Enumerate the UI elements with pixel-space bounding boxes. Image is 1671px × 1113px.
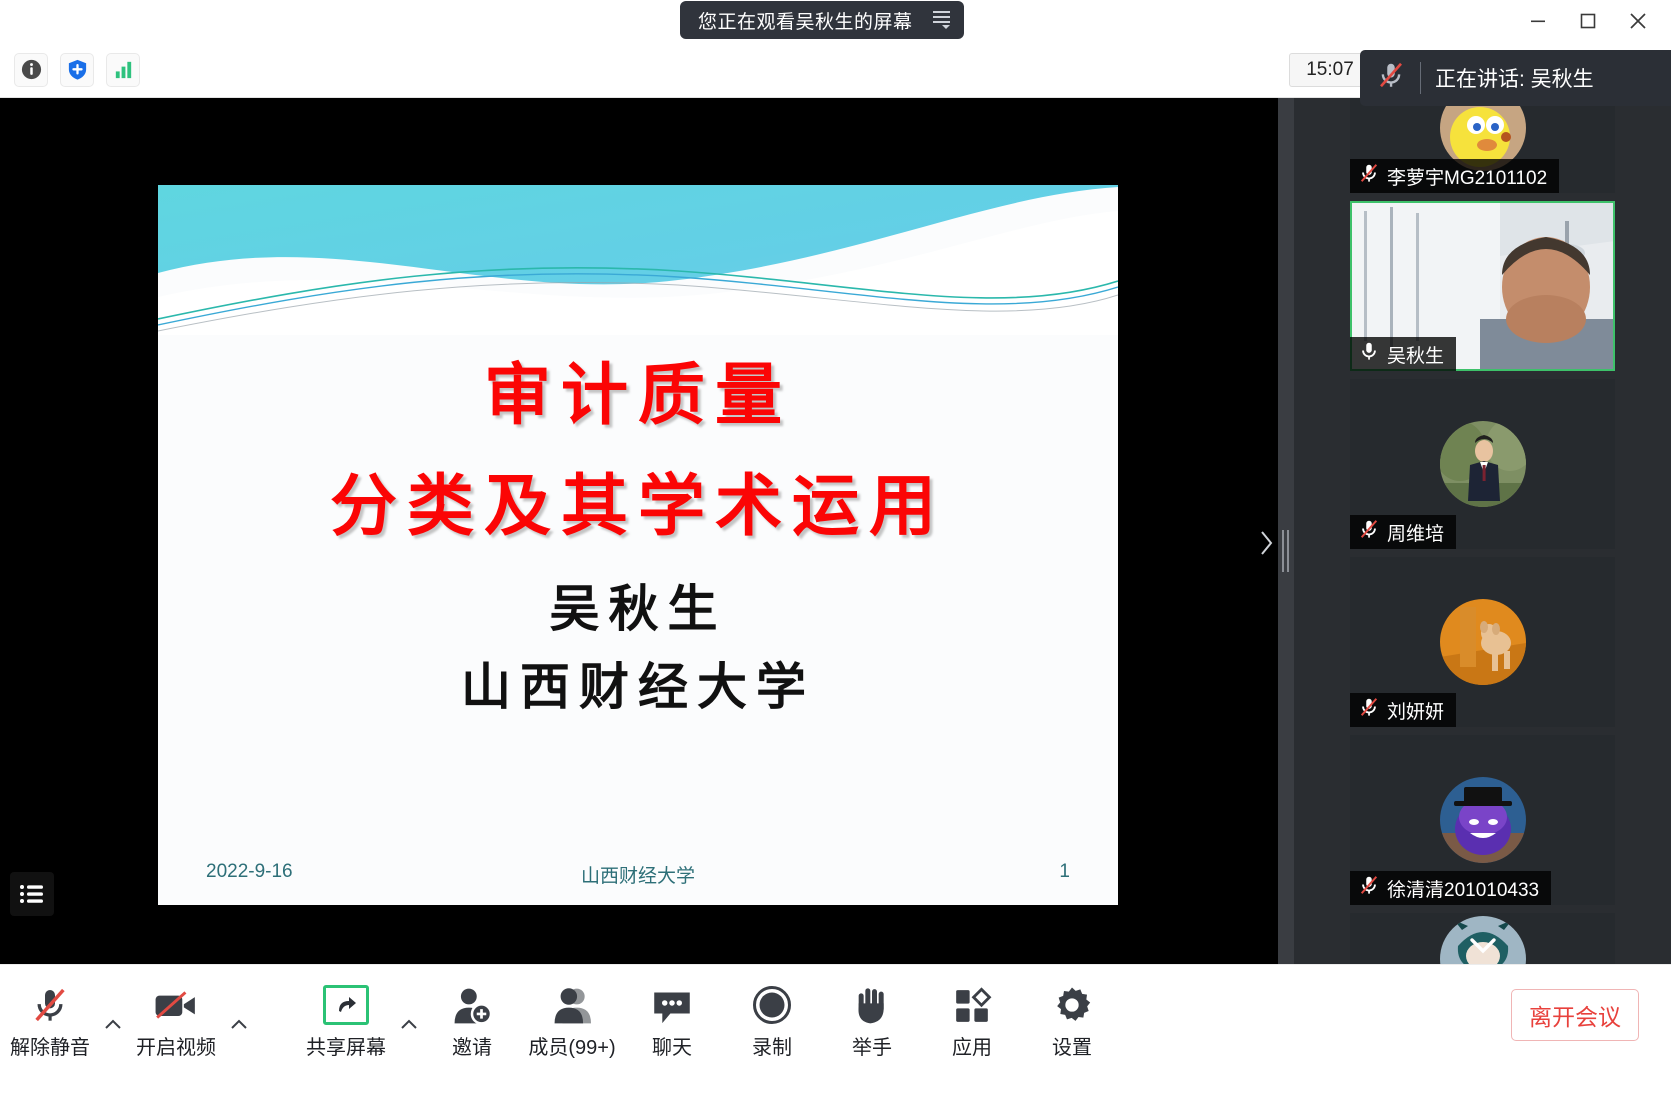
- sidebar-drag-handle[interactable]: [1278, 98, 1294, 964]
- participant-namebar: 李萝宇MG2101102: [1350, 159, 1559, 193]
- apps-grid-icon: [952, 983, 992, 1025]
- apps-label: 应用: [952, 1031, 992, 1060]
- avatar: [1440, 777, 1526, 863]
- chat-button[interactable]: 聊天: [622, 975, 722, 1067]
- slide-footer: 2022-9-16 山西财经大学 1: [158, 861, 1118, 887]
- speaking-toast: 正在讲话: 吴秋生: [1360, 50, 1671, 106]
- apps-button[interactable]: 应用: [922, 975, 1022, 1067]
- participants-icon: [551, 983, 593, 1025]
- slide-page-number: 1: [1059, 861, 1070, 883]
- raise-hand-button[interactable]: 举手: [822, 975, 922, 1067]
- meeting-window: 您正在观看吴秋生的屏幕: [0, 0, 1671, 1113]
- participant-namebar: 徐清清201010433: [1350, 871, 1551, 905]
- participant-namebar: 刘妍妍: [1350, 693, 1456, 727]
- slide-subtitle: 吴秋生 山西财经大学: [158, 570, 1118, 725]
- slide-footer-org: 山西财经大学: [158, 861, 1118, 888]
- record-label: 录制: [752, 1031, 792, 1060]
- hamburger-menu-icon[interactable]: [927, 7, 956, 33]
- outline-list-icon[interactable]: [10, 872, 54, 916]
- close-icon[interactable]: [1613, 0, 1663, 42]
- sharing-notice-pill[interactable]: 您正在观看吴秋生的屏幕: [680, 1, 964, 39]
- shared-screen-stage[interactable]: 审计质量 分类及其学术运用 吴秋生 山西财经大学 2022-9-16 山西财经大…: [0, 98, 1278, 964]
- participant-tile[interactable]: 刘妍妍: [1350, 557, 1615, 727]
- participant-name: 徐清清201010433: [1387, 875, 1539, 902]
- participant-name: 刘妍妍: [1387, 697, 1444, 724]
- slide-title: 审计质量 分类及其学术运用: [158, 340, 1118, 561]
- participant-tile[interactable]: 徐清清201010433: [1350, 735, 1615, 905]
- settings-button[interactable]: 设置: [1022, 975, 1122, 1067]
- participant-tile-list[interactable]: 李萝宇MG2101102: [1294, 98, 1671, 964]
- participants-button[interactable]: 成员(99+): [522, 975, 622, 1067]
- chat-bubble-icon: [651, 983, 693, 1025]
- mic-muted-icon: [1358, 696, 1380, 724]
- invite-label: 邀请: [452, 1031, 492, 1060]
- unmute-button[interactable]: 解除静音: [0, 975, 100, 1067]
- avatar: [1440, 599, 1526, 685]
- video-off-icon: [154, 983, 198, 1025]
- participant-tile[interactable]: 吴秋生: [1350, 201, 1615, 371]
- record-icon: [752, 983, 792, 1025]
- raise-hand-label: 举手: [852, 1031, 892, 1060]
- avatar: [1440, 421, 1526, 507]
- controls-group: 解除静音 开启视频: [0, 975, 1122, 1075]
- meeting-clock: 15:07: [1289, 53, 1371, 87]
- slide-decoration: [158, 185, 1118, 335]
- share-screen-button[interactable]: 共享屏幕: [296, 975, 396, 1067]
- settings-label: 设置: [1052, 1031, 1092, 1060]
- mic-muted-icon: [1358, 874, 1380, 902]
- mic-on-icon: [1358, 340, 1380, 368]
- audio-options-caret-icon[interactable]: [100, 975, 126, 1067]
- window-controls: [1513, 0, 1663, 42]
- mic-muted-icon: [1376, 60, 1406, 96]
- participant-name: 吴秋生: [1387, 341, 1444, 368]
- invite-button[interactable]: 邀请: [422, 975, 522, 1067]
- video-options-caret-icon[interactable]: [226, 975, 252, 1067]
- chevron-right-icon[interactable]: [1256, 523, 1276, 563]
- slide-author: 吴秋生: [158, 570, 1118, 648]
- mic-muted-icon: [1358, 162, 1380, 190]
- mic-muted-icon: [1358, 518, 1380, 546]
- share-screen-label: 共享屏幕: [306, 1031, 386, 1060]
- participant-tile[interactable]: 周维培: [1350, 379, 1615, 549]
- start-video-label: 开启视频: [136, 1031, 216, 1060]
- presentation-slide: 审计质量 分类及其学术运用 吴秋生 山西财经大学 2022-9-16 山西财经大…: [158, 185, 1118, 905]
- participants-sidebar: 李萝宇MG2101102: [1278, 98, 1671, 964]
- gear-icon: [1052, 983, 1092, 1025]
- meeting-controls-bar: 解除静音 开启视频: [0, 964, 1671, 1113]
- participant-tile[interactable]: 李萝宇MG2101102: [1350, 98, 1615, 193]
- title-bar: 您正在观看吴秋生的屏幕: [0, 0, 1671, 42]
- speaking-toast-text: 正在讲话: 吴秋生: [1435, 63, 1594, 93]
- slide-title-line1: 审计质量: [158, 340, 1118, 451]
- minimize-icon[interactable]: [1513, 0, 1563, 42]
- leave-meeting-button[interactable]: 离开会议: [1511, 989, 1639, 1041]
- participant-namebar: 吴秋生: [1350, 337, 1456, 371]
- sharing-notice-text: 您正在观看吴秋生的屏幕: [698, 7, 913, 34]
- mic-muted-icon: [30, 983, 70, 1025]
- record-button[interactable]: 录制: [722, 975, 822, 1067]
- shield-plus-icon[interactable]: [60, 53, 94, 87]
- share-options-caret-icon[interactable]: [396, 975, 422, 1067]
- participant-name: 李萝宇MG2101102: [1387, 163, 1547, 190]
- maximize-icon[interactable]: [1563, 0, 1613, 42]
- unmute-label: 解除静音: [10, 1031, 90, 1060]
- invite-user-icon: [451, 983, 493, 1025]
- slide-title-line2: 分类及其学术运用: [158, 451, 1118, 562]
- participant-name: 周维培: [1387, 519, 1444, 546]
- share-screen-icon: [323, 983, 369, 1025]
- participant-namebar: 周维培: [1350, 515, 1456, 549]
- chevron-down-icon[interactable]: [1466, 933, 1500, 962]
- slide-affiliation: 山西财经大学: [158, 648, 1118, 726]
- signal-bars-icon[interactable]: [106, 53, 140, 87]
- participants-label: 成员(99+): [528, 1031, 615, 1060]
- start-video-button[interactable]: 开启视频: [126, 975, 226, 1067]
- chat-label: 聊天: [652, 1031, 692, 1060]
- info-icon[interactable]: [14, 53, 48, 87]
- raise-hand-icon: [853, 983, 891, 1025]
